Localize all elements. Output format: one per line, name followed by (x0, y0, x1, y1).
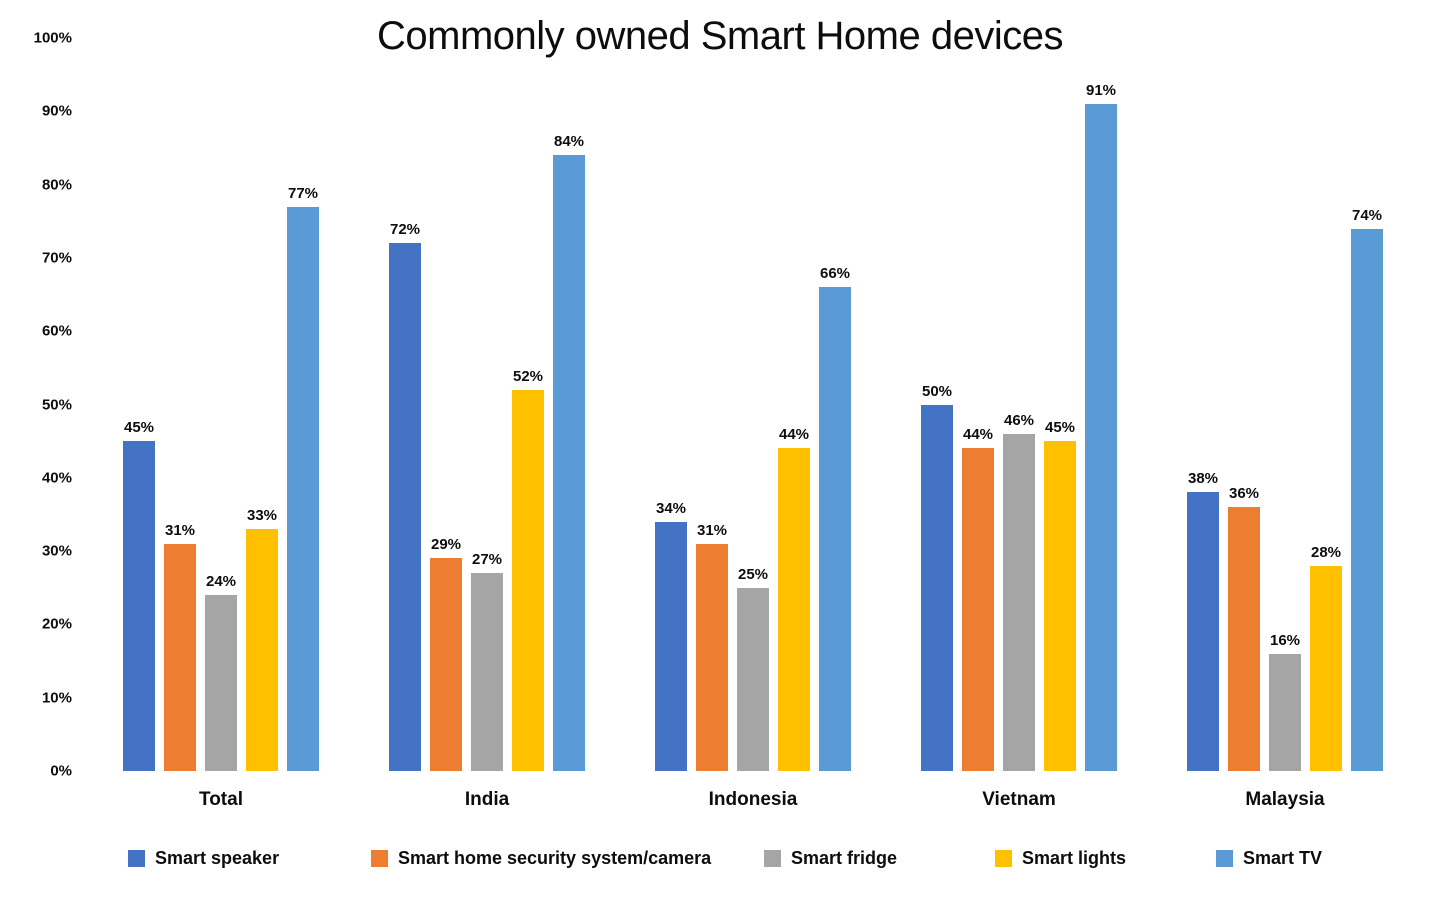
legend-item[interactable]: Smart speaker (128, 846, 279, 870)
bar-slot[interactable]: 72% (389, 38, 421, 771)
bar-slot[interactable]: 34% (655, 38, 687, 771)
bar-slot[interactable]: 91% (1085, 38, 1117, 771)
y-axis-tick-label: 0% (12, 763, 72, 780)
bar-slot[interactable]: 45% (1044, 38, 1076, 771)
bar[interactable] (962, 448, 994, 771)
bar-value-label: 46% (1004, 413, 1034, 428)
bar-value-label: 38% (1188, 471, 1218, 486)
bar[interactable] (1310, 566, 1342, 771)
legend-label: Smart TV (1243, 848, 1322, 869)
legend-swatch-icon (371, 850, 388, 867)
bar-slot[interactable]: 44% (778, 38, 810, 771)
y-axis-tick-label: 100% (12, 30, 72, 47)
bar-slot[interactable]: 50% (921, 38, 953, 771)
bar-slot[interactable]: 52% (512, 38, 544, 771)
bar[interactable] (696, 544, 728, 771)
bar-value-label: 25% (738, 567, 768, 582)
bar[interactable] (737, 588, 769, 771)
legend-item[interactable]: Smart home security system/camera (371, 846, 711, 870)
bar-slot[interactable]: 74% (1351, 38, 1383, 771)
bar[interactable] (246, 529, 278, 771)
bar-value-label: 44% (779, 427, 809, 442)
bar-value-label: 36% (1229, 486, 1259, 501)
bar-value-label: 31% (165, 523, 195, 538)
bar[interactable] (1269, 654, 1301, 771)
bar-slot[interactable]: 45% (123, 38, 155, 771)
bar-value-label: 29% (431, 537, 461, 552)
bar[interactable] (389, 243, 421, 771)
bar-slot[interactable]: 33% (246, 38, 278, 771)
bar[interactable] (1187, 492, 1219, 771)
bar[interactable] (778, 448, 810, 771)
legend-label: Smart speaker (155, 848, 279, 869)
x-axis-category-label: India (465, 789, 509, 811)
bar-value-label: 44% (963, 427, 993, 442)
y-axis-tick-label: 30% (12, 543, 72, 560)
y-axis-tick-label: 80% (12, 176, 72, 193)
bar-slot[interactable]: 84% (553, 38, 585, 771)
bar-slot[interactable]: 38% (1187, 38, 1219, 771)
bar[interactable] (1003, 434, 1035, 771)
bar-value-label: 34% (656, 501, 686, 516)
bar-value-label: 45% (1045, 420, 1075, 435)
x-axis-category-label: Malaysia (1245, 789, 1324, 811)
chart-container: Commonly owned Smart Home devices 100%90… (0, 0, 1440, 897)
bar[interactable] (164, 544, 196, 771)
bar[interactable] (205, 595, 237, 771)
bar[interactable] (1044, 441, 1076, 771)
bar[interactable] (287, 207, 319, 771)
legend-swatch-icon (995, 850, 1012, 867)
legend-item[interactable]: Smart fridge (764, 846, 897, 870)
bar-value-label: 66% (820, 266, 850, 281)
chart-legend: Smart speakerSmart home security system/… (0, 846, 1440, 874)
bar-value-label: 91% (1086, 83, 1116, 98)
y-axis-tick-label: 60% (12, 323, 72, 340)
bar-slot[interactable]: 27% (471, 38, 503, 771)
bar-slot[interactable]: 31% (164, 38, 196, 771)
bar-slot[interactable]: 44% (962, 38, 994, 771)
legend-label: Smart lights (1022, 848, 1126, 869)
y-axis-tick-label: 50% (12, 396, 72, 413)
bar-slot[interactable]: 77% (287, 38, 319, 771)
x-axis-category-label: Total (199, 789, 243, 811)
bar-slot[interactable]: 25% (737, 38, 769, 771)
bar-slot[interactable]: 66% (819, 38, 851, 771)
bar-value-label: 27% (472, 552, 502, 567)
bar-slot[interactable]: 31% (696, 38, 728, 771)
bar-value-label: 16% (1270, 633, 1300, 648)
y-axis-tick-label: 70% (12, 249, 72, 266)
bar-value-label: 24% (206, 574, 236, 589)
legend-swatch-icon (128, 850, 145, 867)
y-axis-tick-label: 40% (12, 469, 72, 486)
bar-slot[interactable]: 24% (205, 38, 237, 771)
bar[interactable] (1351, 229, 1383, 771)
legend-swatch-icon (764, 850, 781, 867)
legend-swatch-icon (1216, 850, 1233, 867)
y-axis: 100%90%80%70%60%50%40%30%20%10%0% (10, 38, 72, 771)
bar[interactable] (655, 522, 687, 771)
bar[interactable] (819, 287, 851, 771)
bar-group: 38%36%16%28%74% (1152, 38, 1418, 771)
bar-slot[interactable]: 29% (430, 38, 462, 771)
legend-label: Smart fridge (791, 848, 897, 869)
y-axis-tick-label: 90% (12, 103, 72, 120)
plot-area: 45%31%24%33%77%72%29%27%52%84%34%31%25%4… (88, 38, 1418, 771)
bar-group: 45%31%24%33%77% (88, 38, 354, 771)
bar[interactable] (1085, 104, 1117, 771)
bar[interactable] (430, 558, 462, 771)
legend-item[interactable]: Smart TV (1216, 846, 1322, 870)
bar-group: 72%29%27%52%84% (354, 38, 620, 771)
bar-value-label: 84% (554, 134, 584, 149)
bar-value-label: 52% (513, 369, 543, 384)
legend-item[interactable]: Smart lights (995, 846, 1126, 870)
bar-value-label: 74% (1352, 208, 1382, 223)
y-axis-tick-label: 10% (12, 689, 72, 706)
bar-slot[interactable]: 36% (1228, 38, 1260, 771)
bar-value-label: 45% (124, 420, 154, 435)
bar[interactable] (553, 155, 585, 771)
bar[interactable] (471, 573, 503, 771)
bar-group: 50%44%46%45%91% (886, 38, 1152, 771)
bar-group: 34%31%25%44%66% (620, 38, 886, 771)
bar[interactable] (921, 405, 953, 772)
bar-value-label: 50% (922, 384, 952, 399)
bar-slot[interactable]: 28% (1310, 38, 1342, 771)
x-axis-category-label: Indonesia (709, 789, 798, 811)
bar-value-label: 28% (1311, 545, 1341, 560)
bar-value-label: 33% (247, 508, 277, 523)
x-axis-category-label: Vietnam (982, 789, 1056, 811)
bar[interactable] (123, 441, 155, 771)
bar-value-label: 72% (390, 222, 420, 237)
bar-value-label: 77% (288, 186, 318, 201)
bar[interactable] (1228, 507, 1260, 771)
bar-value-label: 31% (697, 523, 727, 538)
bar-slot[interactable]: 16% (1269, 38, 1301, 771)
bar-slot[interactable]: 46% (1003, 38, 1035, 771)
bar[interactable] (512, 390, 544, 771)
y-axis-tick-label: 20% (12, 616, 72, 633)
legend-label: Smart home security system/camera (398, 848, 711, 869)
